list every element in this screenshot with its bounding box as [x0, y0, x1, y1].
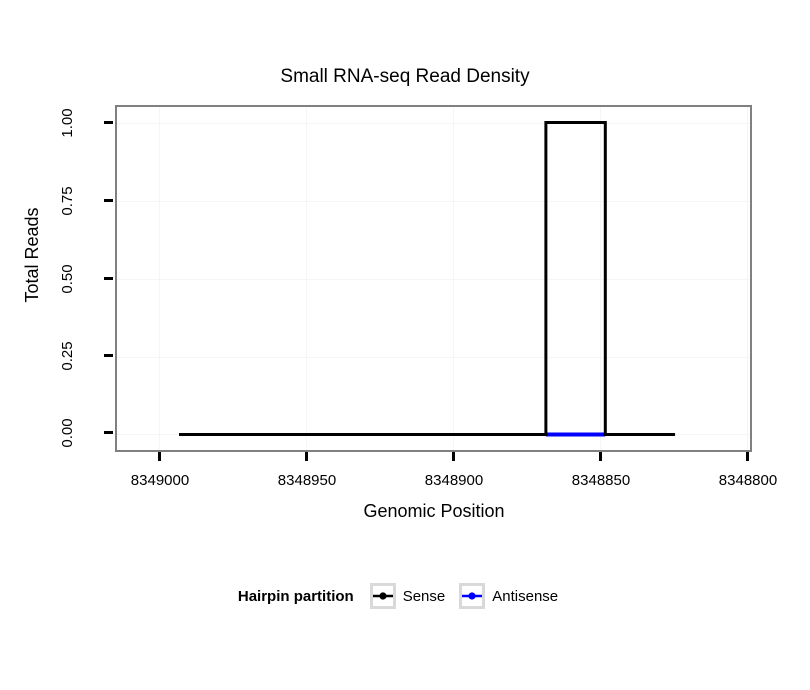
plot-panel	[115, 105, 752, 452]
x-tick-label-8348950: 8348950	[247, 472, 367, 489]
y-axis-title: Total Reads	[22, 175, 42, 335]
x-tick-mark-8349000	[158, 452, 161, 461]
x-axis-title: Genomic Position	[115, 500, 753, 522]
y-tick-label-0.50: 0.50	[60, 249, 76, 309]
x-tick-mark-8348950	[305, 452, 308, 461]
y-tick-mark-0.50	[104, 277, 113, 280]
y-tick-label-1.00: 1.00	[60, 93, 76, 153]
legend-item-sense[interactable]: Sense	[370, 583, 446, 609]
legend-key-sense-icon	[370, 583, 396, 609]
legend: Hairpin partition Sense Antisense	[0, 583, 810, 609]
y-tick-label-0.00: 0.00	[60, 403, 76, 463]
x-tick-mark-8348900	[452, 452, 455, 461]
legend-label-antisense: Antisense	[492, 588, 558, 605]
legend-key-antisense-icon	[459, 583, 485, 609]
y-tick-mark-0.75	[104, 199, 113, 202]
x-tick-label-8349000: 8349000	[100, 472, 220, 489]
chart-figure: Small RNA-seq Read Density Total Reads 1	[0, 0, 810, 690]
y-tick-label-0.75: 0.75	[60, 171, 76, 231]
y-tick-label-0.25: 0.25	[60, 326, 76, 386]
x-tick-label-8348850: 8348850	[541, 472, 661, 489]
legend-label-sense: Sense	[403, 588, 446, 605]
plot-area	[117, 107, 750, 450]
series-layer	[117, 107, 750, 450]
legend-title: Hairpin partition	[238, 588, 354, 605]
x-tick-mark-8348850	[599, 452, 602, 461]
x-tick-label-8348900: 8348900	[394, 472, 514, 489]
x-tick-label-8348800: 8348800	[688, 472, 808, 489]
y-tick-mark-0.25	[104, 354, 113, 357]
y-tick-mark-0.00	[104, 431, 113, 434]
y-tick-mark-1.00	[104, 121, 113, 124]
page-title: Small RNA-seq Read Density	[0, 66, 810, 88]
x-tick-mark-8348800	[746, 452, 749, 461]
legend-item-antisense[interactable]: Antisense	[459, 583, 558, 609]
series-line-sense	[179, 122, 675, 434]
